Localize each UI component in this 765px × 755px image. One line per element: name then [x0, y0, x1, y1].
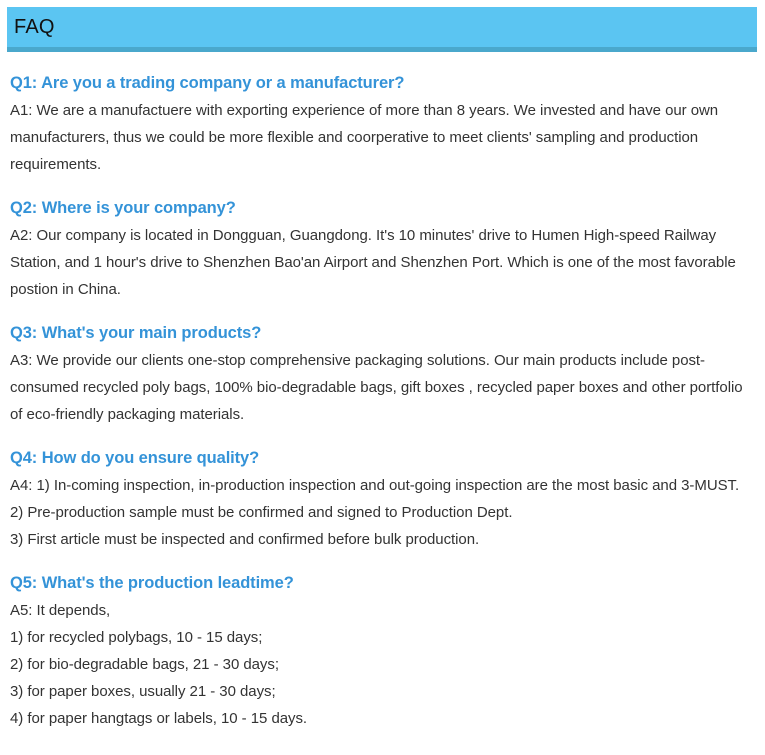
faq-question-q4: Q4: How do you ensure quality? — [10, 447, 755, 470]
faq-answer-line: 2) for bio-degradable bags, 21 - 30 days… — [10, 651, 755, 678]
faq-banner-title: FAQ — [7, 17, 55, 37]
faq-answer-q1: A1: We are a manufactuere with exporting… — [10, 97, 755, 178]
faq-page: FAQ Q1: Are you a trading company or a m… — [0, 7, 765, 755]
faq-item-q3: Q3: What's your main products? A3: We pr… — [10, 322, 755, 428]
faq-banner: FAQ — [7, 7, 757, 52]
faq-question-q5: Q5: What's the production leadtime? — [10, 572, 755, 595]
faq-question-q3: Q3: What's your main products? — [10, 322, 755, 345]
faq-answer-line: 2) Pre-production sample must be confirm… — [10, 499, 755, 526]
faq-answer-line: 3) First article must be inspected and c… — [10, 526, 755, 553]
faq-item-q5: Q5: What's the production leadtime? A5: … — [10, 572, 755, 732]
faq-answer-line: 3) for paper boxes, usually 21 - 30 days… — [10, 678, 755, 705]
faq-answer-line: 4) for paper hangtags or labels, 10 - 15… — [10, 705, 755, 732]
faq-answer-line: 1) for recycled polybags, 10 - 15 days; — [10, 624, 755, 651]
faq-answer-q4: A4: 1) In-coming inspection, in-producti… — [10, 472, 755, 553]
faq-item-q4: Q4: How do you ensure quality? A4: 1) In… — [10, 447, 755, 553]
faq-question-q2: Q2: Where is your company? — [10, 197, 755, 220]
faq-answer-q5: A5: It depends, 1) for recycled polybags… — [10, 597, 755, 732]
faq-question-q1: Q1: Are you a trading company or a manuf… — [10, 72, 755, 95]
faq-answer-line: A5: It depends, — [10, 597, 755, 624]
faq-answer-line: A4: 1) In-coming inspection, in-producti… — [10, 472, 755, 499]
faq-item-q2: Q2: Where is your company? A2: Our compa… — [10, 197, 755, 303]
faq-answer-q3: A3: We provide our clients one-stop comp… — [10, 347, 755, 428]
faq-list: Q1: Are you a trading company or a manuf… — [0, 72, 765, 732]
faq-item-q1: Q1: Are you a trading company or a manuf… — [10, 72, 755, 178]
faq-answer-q2: A2: Our company is located in Dongguan, … — [10, 222, 755, 303]
